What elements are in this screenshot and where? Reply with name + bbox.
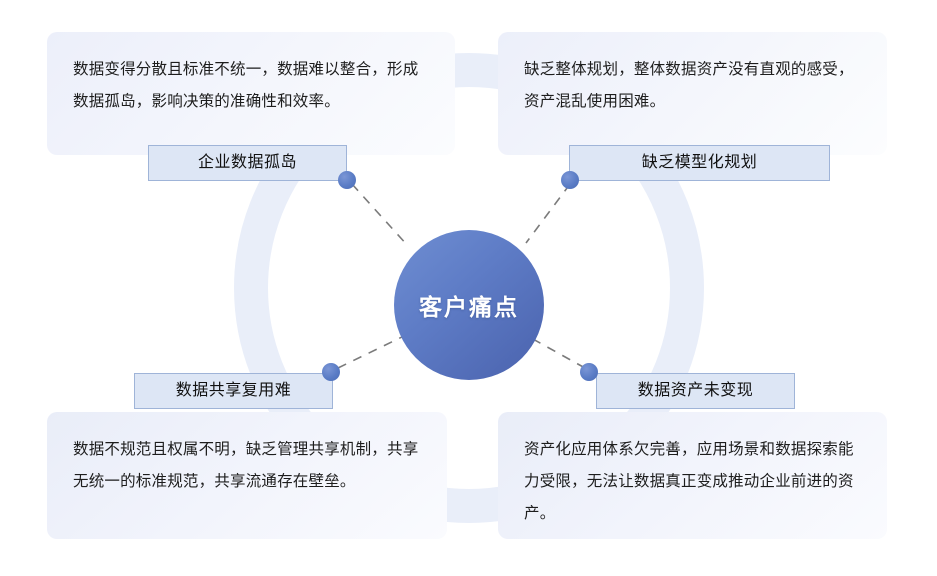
- connector-dot-bottom-left: [322, 363, 340, 381]
- label-chip-top-left[interactable]: 企业数据孤岛: [148, 145, 347, 181]
- description-text-top-left: 数据变得分散且标准不统一，数据难以整合，形成数据孤岛，影响决策的准确性和效率。: [73, 54, 429, 118]
- description-text-bottom-left: 数据不规范且权属不明，缺乏管理共享机制，共享无统一的标准规范，共享流通存在壁垒。: [73, 434, 421, 498]
- connector-dot-top-right: [561, 171, 579, 189]
- description-text-bottom-right: 资产化应用体系欠完善，应用场景和数据探索能力受限，无法让数据真正变成推动企业前进…: [524, 434, 861, 530]
- connector-dot-bottom-right: [580, 363, 598, 381]
- center-hub: 客户痛点: [394, 230, 544, 380]
- description-panel-top-left: 数据变得分散且标准不统一，数据难以整合，形成数据孤岛，影响决策的准确性和效率。: [47, 32, 455, 155]
- label-chip-bottom-left[interactable]: 数据共享复用难: [134, 373, 333, 409]
- pain-point-diagram: 数据变得分散且标准不统一，数据难以整合，形成数据孤岛，影响决策的准确性和效率。 …: [0, 0, 937, 576]
- description-panel-bottom-left: 数据不规范且权属不明，缺乏管理共享机制，共享无统一的标准规范，共享流通存在壁垒。: [47, 412, 447, 539]
- connector-line-top-left: [352, 184, 408, 246]
- connector-line-top-right: [526, 184, 570, 243]
- connector-dot-top-left: [338, 171, 356, 189]
- center-hub-label: 客户痛点: [419, 288, 519, 322]
- label-text-bottom-right: 数据资产未变现: [638, 382, 754, 399]
- label-chip-bottom-right[interactable]: 数据资产未变现: [596, 373, 795, 409]
- connector-line-bottom-left: [338, 336, 404, 368]
- label-chip-top-right[interactable]: 缺乏模型化规划: [569, 145, 830, 181]
- label-text-top-right: 缺乏模型化规划: [642, 154, 758, 171]
- description-text-top-right: 缺乏整体规划，整体数据资产没有直观的感受，资产混乱使用困难。: [524, 54, 861, 118]
- connector-line-bottom-right: [531, 338, 585, 368]
- description-panel-top-right: 缺乏整体规划，整体数据资产没有直观的感受，资产混乱使用困难。: [498, 32, 887, 155]
- label-text-top-left: 企业数据孤岛: [198, 154, 297, 171]
- label-text-bottom-left: 数据共享复用难: [176, 382, 292, 399]
- description-panel-bottom-right: 资产化应用体系欠完善，应用场景和数据探索能力受限，无法让数据真正变成推动企业前进…: [498, 412, 887, 539]
